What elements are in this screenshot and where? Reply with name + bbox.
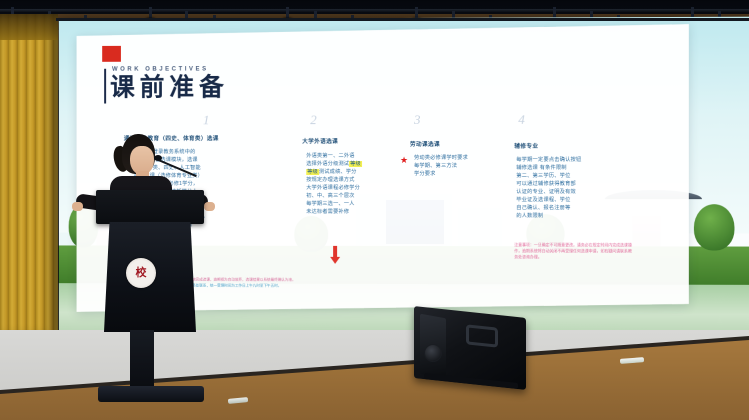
star-marker-icon: ★ [400, 156, 408, 165]
column-line: 每学期三选一、一人 [306, 200, 402, 208]
presenter-left-hand [72, 202, 83, 211]
truss-bar-upper [0, 9, 749, 12]
column-line: 的人数限制 [516, 213, 633, 221]
column-number-2: 2 [310, 112, 316, 128]
podium-stem [130, 330, 154, 390]
column-heading-2: 大学外语选课 [302, 137, 338, 145]
column-line: 毕业证及选课程、学位 [516, 196, 633, 204]
highlighted-text: 等级 [349, 161, 362, 167]
podium-monitor [96, 190, 204, 224]
title-rule [104, 69, 106, 104]
column-number-3: 3 [414, 112, 421, 128]
column-body-3: 劳动类必修课学时要求每学期、第三方法学分要求 [414, 154, 510, 178]
column-line: 可以通过辅修获得教育部 [516, 180, 633, 188]
column-line: 选择外语分级测试等级 [306, 160, 402, 168]
column-line: 每学期一定要点击确认按钮 [516, 156, 633, 164]
column-line: 自己确认、报名注册等 [516, 204, 633, 212]
column-body-4: 每学期一定要点击确认按钮辅修选课 有条件限制第二、第三学历、学位可以通过辅修获得… [516, 156, 633, 221]
column-number-1: 1 [203, 112, 209, 128]
column-line: 外语类第一、二外语 [306, 152, 402, 160]
highlighted-text: 等级 [306, 169, 319, 175]
slide-title: 课前准备 [110, 74, 229, 99]
column-line: 劳动类必修课学时要求 [414, 154, 510, 162]
column-note-4: 注意事项：一旦确定不可随意更改，请务必在规定时间内完成选课操作，逾期系统将自动关… [514, 242, 635, 260]
column-line: 按规定办理选课方式 [306, 176, 402, 184]
emblem-glyph: 校 [136, 268, 147, 279]
microphone-icon [154, 155, 162, 161]
footnote-line-2: 温馨提示：如有系统问题，请及时与教务处联系，统一受理时间为工作日上午九时至下午五… [132, 283, 672, 290]
column-line: 第二、第三学历、学位 [516, 172, 633, 180]
curtain-valance [0, 14, 58, 40]
speaker-handle [466, 324, 498, 347]
column-line: 辅修选课 有条件限制 [516, 164, 633, 172]
column-line: 学分要求 [414, 170, 510, 178]
floor-wood-apron [0, 330, 749, 420]
stage-floor [0, 330, 749, 420]
presenter-right-hand [204, 202, 215, 211]
column-body-2: 外语类第一、二外语选择外语分级测试等级等级测试成绩、学分按规定办理选课方式大学外… [306, 152, 402, 216]
column-number-4: 4 [518, 112, 525, 128]
column-line: 认证的专业、证明及有效 [516, 188, 633, 196]
screenshot-root: WORK OBJECTIVES 课前准备 1 2 3 4 通识任选教育（四史、体… [0, 0, 749, 420]
podium-base [98, 386, 204, 402]
column-line: 等级测试成绩、学分 [306, 168, 402, 176]
stage-curtain [0, 14, 58, 338]
column-line: 每学期、第三方法 [414, 162, 510, 170]
column-line: 初、中、高三个层次 [306, 192, 402, 200]
column-heading-4: 辅修专业 [514, 142, 538, 150]
column-line: 大学外语课程必修学分 [306, 184, 402, 192]
column-line: 2、体育类、四史、人工智能 [134, 164, 293, 172]
podium-emblem-icon: 校 [126, 258, 156, 288]
accent-square-icon [102, 46, 121, 62]
speaker-woofer-icon [424, 344, 442, 362]
down-arrow-icon [330, 257, 340, 264]
column-heading-3: 劳动课选课 [410, 140, 440, 148]
photo-tree [694, 204, 735, 250]
column-line: 未达标者需要补修 [306, 208, 402, 216]
